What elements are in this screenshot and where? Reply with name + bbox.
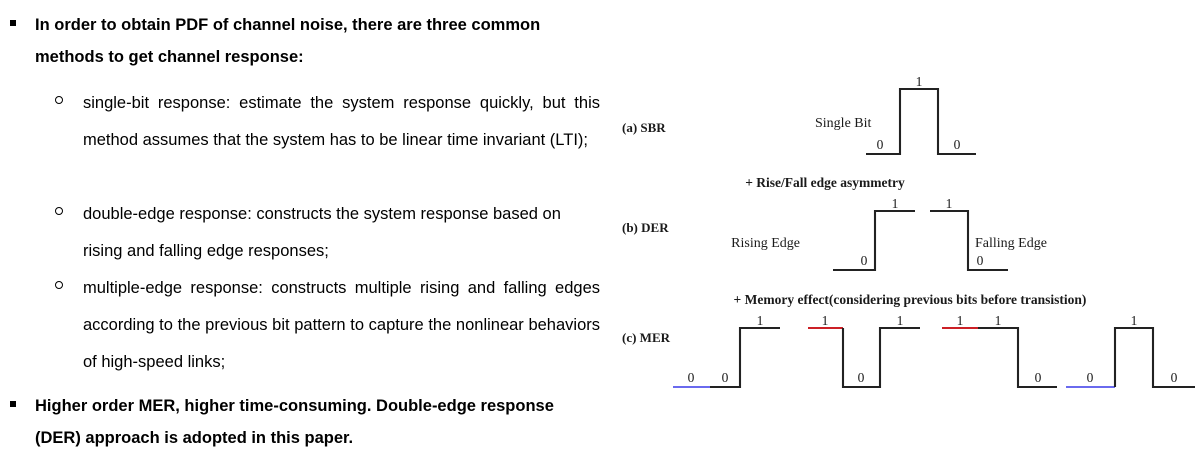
text-column: In order to obtain PDF of channel noise,…	[0, 0, 610, 466]
der-digit-1-rising: 1	[892, 196, 899, 211]
mer-g3-digit-0: 0	[1035, 370, 1042, 385]
circle-bullet-icon	[55, 281, 63, 289]
mer-g4-digit-0-a: 0	[1087, 370, 1094, 385]
mer-g2-digit-1-b: 1	[897, 313, 904, 328]
bullet-item-4: multiple-edge response: constructs multi…	[55, 270, 600, 381]
mer-g4-digit-1: 1	[1131, 313, 1138, 328]
mer-g1-digit-0-b: 0	[722, 370, 729, 385]
bullet-item-3: double-edge response: constructs the sys…	[55, 196, 600, 270]
der-digit-1-falling: 1	[946, 196, 953, 211]
mer-g1-digit-0-a: 0	[688, 370, 695, 385]
der-digit-0-rising: 0	[861, 253, 868, 268]
mer-g2-waveform-path	[843, 328, 920, 387]
bullet-item-5: Higher order MER, higher time-consuming.…	[10, 390, 600, 454]
square-bullet-icon	[10, 401, 16, 407]
der-digit-0-falling: 0	[977, 253, 984, 268]
waveform-diagram-svg: (a) SBR Single Bit 0 1 0 + Rise/Fall edg…	[610, 0, 1203, 466]
mer-g1-digit-1: 1	[757, 313, 764, 328]
mer-g3-digit-1-a: 1	[957, 313, 964, 328]
square-bullet-icon	[10, 20, 16, 26]
der-rising-edge-path	[833, 211, 915, 270]
note-rise-fall-asymmetry: + Rise/Fall edge asymmetry	[745, 175, 905, 190]
bullet-item-1-text: In order to obtain PDF of channel noise,…	[35, 9, 600, 73]
mer-g2-digit-0: 0	[858, 370, 865, 385]
mer-g2-digit-1-a: 1	[822, 313, 829, 328]
mer-g3-digit-1-b: 1	[995, 313, 1002, 328]
note-memory-effect: + Memory effect(considering previous bit…	[734, 292, 1087, 307]
mer-g1-waveform-path	[710, 328, 780, 387]
sbr-waveform-label: Single Bit	[815, 116, 872, 131]
section-label-der: (b) DER	[622, 220, 669, 235]
bullet-item-3-text: double-edge response: constructs the sys…	[83, 196, 600, 270]
mer-g4-digit-0-b: 0	[1171, 370, 1178, 385]
der-falling-edge-label: Falling Edge	[975, 236, 1047, 251]
mer-g4-waveform-path	[1115, 328, 1195, 387]
circle-bullet-icon	[55, 96, 63, 104]
circle-bullet-icon	[55, 207, 63, 215]
sbr-digit-0-left: 0	[877, 137, 884, 152]
section-label-mer: (c) MER	[622, 330, 671, 345]
bullet-item-1: In order to obtain PDF of channel noise,…	[10, 9, 600, 73]
bullet-item-5-text: Higher order MER, higher time-consuming.…	[35, 390, 600, 454]
sbr-digit-0-right: 0	[954, 137, 961, 152]
der-rising-edge-label: Rising Edge	[731, 236, 800, 251]
bullet-item-2: single-bit response: estimate the system…	[55, 85, 600, 159]
mer-g3-waveform-path	[978, 328, 1057, 387]
waveform-diagram: (a) SBR Single Bit 0 1 0 + Rise/Fall edg…	[610, 0, 1203, 466]
bullet-item-2-text: single-bit response: estimate the system…	[83, 85, 600, 159]
bullet-item-4-text: multiple-edge response: constructs multi…	[83, 270, 600, 381]
sbr-digit-1: 1	[916, 74, 923, 89]
section-label-sbr: (a) SBR	[622, 120, 666, 135]
